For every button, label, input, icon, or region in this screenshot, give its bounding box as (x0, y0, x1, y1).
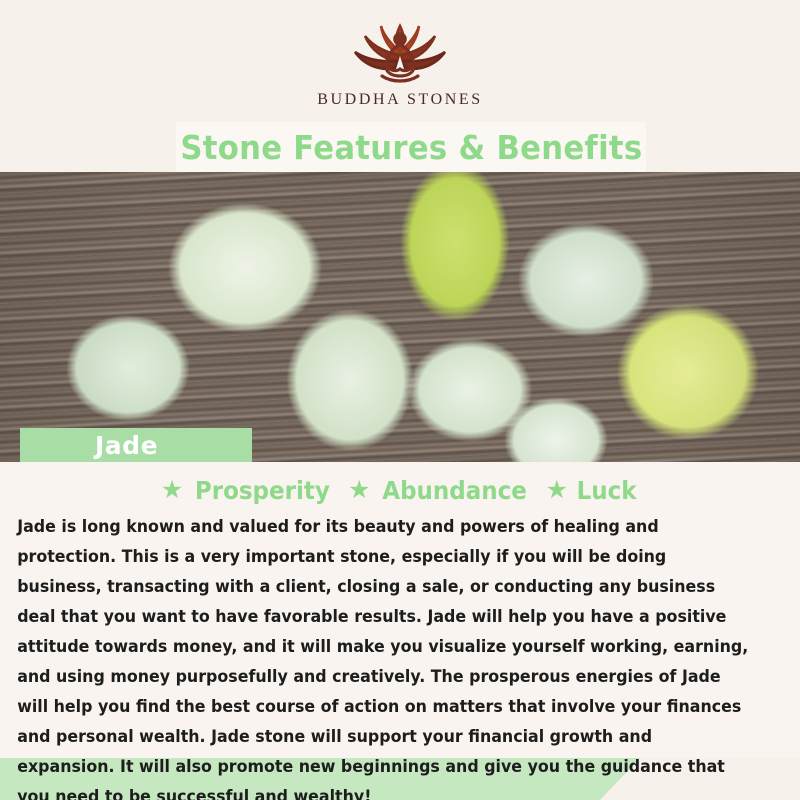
brand-logo: BUDDHA STONES (0, 14, 800, 109)
stone-name-label: Jade (95, 431, 158, 460)
title-banner: Stone Features & Benefits (176, 122, 646, 172)
star-icon: ★ (348, 478, 370, 503)
stone-info-poster: BUDDHA STONES Stone Features & Benefits … (0, 0, 800, 800)
benefit-item-prosperity: ★ Prosperity (161, 476, 336, 505)
benefit-item-abundance: ★ Abundance (348, 476, 534, 505)
benefit-label-prosperity: Prosperity (195, 476, 330, 505)
benefit-label-luck: Luck (577, 476, 637, 505)
benefit-item-luck: ★ Luck (546, 476, 640, 505)
lotus-meditation-icon (325, 14, 475, 86)
content-area: ★ Prosperity ★ Abundance ★ Luck Jade is … (0, 462, 800, 758)
star-icon: ★ (546, 478, 568, 503)
benefit-label-abundance: Abundance (383, 476, 528, 505)
brand-name: BUDDHA STONES (317, 91, 483, 109)
page-title: Stone Features & Benefits (180, 128, 642, 167)
stone-description: Jade is long known and valued for its be… (0, 506, 764, 800)
benefits-list: ★ Prosperity ★ Abundance ★ Luck (0, 462, 800, 506)
stone-name-band: Jade (20, 428, 252, 462)
jade-stones-photo (0, 172, 800, 462)
star-icon: ★ (161, 478, 183, 503)
